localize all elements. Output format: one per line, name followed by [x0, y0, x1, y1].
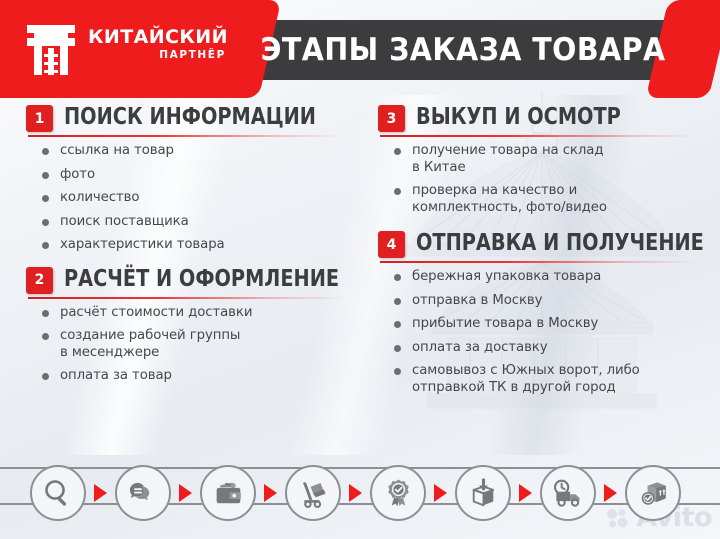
section-3-title: ВЫКУП И ОСМОТР — [416, 102, 621, 133]
list-item: количество — [42, 190, 356, 207]
list-item: получение товара на склад в Китае — [394, 143, 708, 176]
section-1-list: ссылка на товар фото количество поиск по… — [42, 143, 356, 254]
delivered-box-icon — [636, 476, 670, 510]
list-item: самовывоз с Южных ворот, либо отправкой … — [394, 363, 708, 396]
list-item: расчёт стоимости доставки — [42, 305, 356, 322]
brand-logo: КИТАЙСКИЙ ПАРТНЁР — [22, 22, 227, 78]
list-item: бережная упаковка товара — [394, 269, 708, 286]
left-column: 1 ПОИСК ИНФОРМАЦИИ ссылка на товар фото … — [26, 104, 356, 392]
section-2: 2 РАСЧЁТ И ОФОРМЛЕНИЕ расчёт стоимости д… — [26, 266, 356, 385]
list-item: поиск поставщика — [42, 214, 356, 231]
section-3-number-badge: 3 — [378, 105, 405, 132]
process-step-list — [0, 447, 720, 539]
process-step-magnifier — [30, 465, 86, 521]
process-step-delivery-truck — [540, 465, 596, 521]
section-1-title: ПОИСК ИНФОРМАЦИИ — [64, 102, 316, 133]
brand-name: КИТАЙСКИЙ ПАРТНЁР — [88, 26, 228, 62]
section-3-underline — [380, 135, 698, 137]
section-4-title: ОТПРАВКА И ПОЛУЧЕНИЕ — [416, 228, 704, 259]
chinese-gate-icon — [22, 22, 80, 78]
process-strip: Avito — [0, 447, 720, 539]
red-triangle-arrow-icon — [349, 484, 362, 502]
chat-bubbles-icon — [127, 477, 159, 509]
section-4-list: бережная упаковка товара отправка в Моск… — [394, 269, 708, 396]
process-step-wallet — [200, 465, 256, 521]
list-item: оплата за товар — [42, 368, 356, 385]
wallet-icon — [212, 477, 245, 510]
quality-seal-icon — [382, 477, 415, 510]
list-item: проверка на качество и комплектность, фо… — [394, 183, 708, 216]
section-1-underline — [28, 135, 346, 137]
section-2-underline — [28, 297, 346, 299]
section-2-header: 2 РАСЧЁТ И ОФОРМЛЕНИЕ — [26, 266, 356, 300]
process-step-quality-seal — [370, 465, 426, 521]
process-step-chat — [115, 465, 171, 521]
red-triangle-arrow-icon — [179, 484, 192, 502]
section-1-number-badge: 1 — [26, 105, 53, 132]
brand-name-primary: КИТАЙСКИЙ — [88, 26, 228, 48]
box-packing-icon — [467, 477, 500, 510]
page-title: ЭТАПЫ ЗАКАЗА ТОВАРА — [265, 24, 661, 76]
magnifier-icon — [42, 477, 74, 509]
section-4: 4 ОТПРАВКА И ПОЛУЧЕНИЕ бережная упаковка… — [378, 230, 708, 396]
list-item: отправка в Москву — [394, 293, 708, 310]
right-column: 3 ВЫКУП И ОСМОТР получение товара на скл… — [378, 104, 708, 403]
poster-root: ЭТАПЫ ЗАКАЗА ТОВАРА КИТАЙСКИЙ ПАРТНЁР — [0, 0, 720, 539]
section-1: 1 ПОИСК ИНФОРМАЦИИ ссылка на товар фото … — [26, 104, 356, 254]
section-4-header: 4 ОТПРАВКА И ПОЛУЧЕНИЕ — [378, 230, 708, 264]
delivery-truck-icon — [551, 476, 585, 510]
list-item: характеристики товара — [42, 237, 356, 254]
red-triangle-arrow-icon — [94, 484, 107, 502]
section-4-number-badge: 4 — [378, 231, 405, 258]
hand-truck-icon — [297, 477, 330, 510]
section-3: 3 ВЫКУП И ОСМОТР получение товара на скл… — [378, 104, 708, 216]
red-triangle-arrow-icon — [519, 484, 532, 502]
process-step-delivered-box — [625, 465, 681, 521]
list-item: ссылка на товар — [42, 143, 356, 160]
section-3-header: 3 ВЫКУП И ОСМОТР — [378, 104, 708, 138]
list-item: фото — [42, 167, 356, 184]
section-4-underline — [380, 261, 698, 263]
red-triangle-arrow-icon — [264, 484, 277, 502]
poster-header: ЭТАПЫ ЗАКАЗА ТОВАРА КИТАЙСКИЙ ПАРТНЁР — [0, 0, 720, 98]
process-step-box-packing — [455, 465, 511, 521]
section-1-header: 1 ПОИСК ИНФОРМАЦИИ — [26, 104, 356, 138]
section-3-list: получение товара на склад в Китае провер… — [394, 143, 708, 216]
list-item: оплата за доставку — [394, 340, 708, 357]
section-2-number-badge: 2 — [26, 267, 53, 294]
section-2-list: расчёт стоимости доставки создание рабоч… — [42, 305, 356, 385]
section-2-title: РАСЧЁТ И ОФОРМЛЕНИЕ — [64, 264, 339, 295]
list-item: создание рабочей группы в месенджере — [42, 328, 356, 361]
red-triangle-arrow-icon — [604, 484, 617, 502]
red-triangle-arrow-icon — [434, 484, 447, 502]
process-step-hand-truck — [285, 465, 341, 521]
list-item: прибытие товара в Москву — [394, 316, 708, 333]
brand-name-secondary: ПАРТНЁР — [88, 49, 228, 62]
